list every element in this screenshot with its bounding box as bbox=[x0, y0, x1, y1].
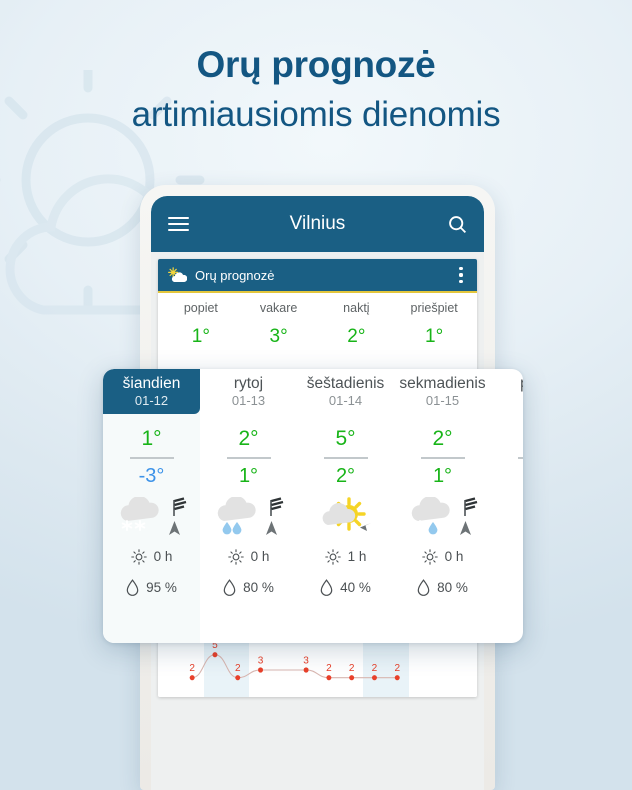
droplet-icon bbox=[320, 579, 333, 596]
forecast-column: vakare 3° bbox=[240, 301, 318, 374]
wind-flag-icon bbox=[167, 497, 193, 537]
sun-hours-row: 0 h bbox=[394, 549, 491, 565]
temp-divider bbox=[421, 457, 465, 459]
weather-icon-group bbox=[103, 490, 200, 544]
day-tab[interactable]: rytoj 01-13 bbox=[200, 369, 297, 414]
hamburger-icon[interactable] bbox=[165, 211, 191, 237]
arrow-north-icon bbox=[169, 521, 180, 535]
cloud-icon bbox=[515, 497, 524, 537]
forecast-strip: popiet 1° vakare 3° naktį 2° priešpiet 1… bbox=[158, 293, 477, 380]
droplet-icon bbox=[417, 579, 430, 596]
precipitation-row: 95 % bbox=[103, 579, 200, 596]
chart-point-label: 2 bbox=[235, 663, 241, 674]
day-name: šeštadienis bbox=[307, 375, 385, 393]
sun-hours-icon bbox=[228, 549, 244, 565]
page-title-line1: Orų prognozė bbox=[0, 42, 632, 88]
daily-forecast-overlay-card: šiandien 01-12 1° -3° bbox=[103, 369, 523, 643]
precipitation-row bbox=[491, 579, 523, 596]
day-tab[interactable]: sekmadienis 01-15 bbox=[394, 369, 491, 414]
day-date: 01-15 bbox=[426, 393, 459, 409]
day-tab[interactable]: pirma 01 bbox=[491, 369, 523, 414]
sun-hours-row: 0 h bbox=[103, 549, 200, 565]
chart-point-label: 2 bbox=[189, 663, 195, 674]
temp-divider bbox=[518, 457, 524, 459]
forecast-card-title: Orų prognozė bbox=[195, 268, 454, 283]
forecast-column-temp: 1° bbox=[395, 326, 473, 348]
wind-flag-icon bbox=[264, 497, 290, 537]
chart-point-label: 2 bbox=[372, 663, 378, 674]
sun-hours-value: 0 h bbox=[154, 549, 173, 564]
chart-point-label: 3 bbox=[303, 655, 309, 666]
daily-forecast-column[interactable]: sekmadienis 01-15 2° 1° bbox=[394, 369, 491, 643]
chart-data-point bbox=[349, 675, 354, 680]
day-tab[interactable]: šiandien 01-12 bbox=[103, 369, 200, 414]
arrow-northwest-icon bbox=[360, 523, 371, 531]
chart-data-point bbox=[258, 667, 263, 672]
chart-point-label: 2 bbox=[326, 663, 332, 674]
chart-data-point bbox=[372, 675, 377, 680]
forecast-column-label: popiet bbox=[162, 301, 240, 315]
weather-icon-group bbox=[200, 490, 297, 544]
temp-high: 2° bbox=[238, 427, 258, 451]
kebab-menu-icon[interactable] bbox=[454, 267, 468, 283]
droplet-icon bbox=[126, 579, 139, 596]
precipitation-row: 40 % bbox=[297, 579, 394, 596]
day-name: pirma bbox=[520, 375, 523, 393]
sun-hours-row bbox=[491, 549, 523, 565]
temp-low: 1° bbox=[239, 464, 258, 488]
daily-forecast-column[interactable]: šeštadienis 01-14 5° 2° bbox=[297, 369, 394, 643]
wind-flag-icon bbox=[458, 497, 484, 537]
cloud-rain-icon bbox=[208, 497, 264, 537]
temp-low: -3° bbox=[139, 464, 165, 488]
temp-low: 2° bbox=[336, 464, 355, 488]
temp-low: 1° bbox=[433, 464, 452, 488]
arrow-north-icon bbox=[266, 521, 277, 535]
chart-point-label: 3 bbox=[258, 655, 264, 666]
chart-data-point bbox=[395, 675, 400, 680]
forecast-column-label: naktį bbox=[318, 301, 396, 315]
day-tab[interactable]: šeštadienis 01-14 bbox=[297, 369, 394, 414]
chart-point-label: 2 bbox=[394, 663, 400, 674]
chart-point-label: 2 bbox=[349, 663, 355, 674]
forecast-column-temp: 2° bbox=[318, 326, 396, 348]
day-name: šiandien bbox=[123, 375, 181, 393]
temp-high: 1° bbox=[141, 427, 161, 451]
day-date: 01-14 bbox=[329, 393, 362, 409]
precipitation-row: 80 % bbox=[200, 579, 297, 596]
sun-hours-value: 0 h bbox=[251, 549, 270, 564]
day-name: rytoj bbox=[234, 375, 263, 393]
sun-cloud-icon bbox=[167, 267, 187, 284]
daily-forecast-column-today[interactable]: šiandien 01-12 1° -3° bbox=[103, 369, 200, 643]
sun-hours-icon bbox=[325, 549, 341, 565]
sun-cloud-icon bbox=[316, 497, 376, 537]
temp-high: 5° bbox=[335, 427, 355, 451]
temp-high: 2° bbox=[432, 427, 452, 451]
forecast-column: priešpiet 1° bbox=[395, 301, 473, 374]
search-icon[interactable] bbox=[444, 211, 470, 237]
daily-forecast-column-clipped[interactable]: pirma 01 3° 1° bbox=[491, 369, 523, 643]
daily-forecast-grid: šiandien 01-12 1° -3° bbox=[103, 369, 523, 643]
day-name: sekmadienis bbox=[399, 375, 485, 393]
arrow-north-icon bbox=[460, 521, 471, 535]
temp-divider bbox=[227, 457, 271, 459]
precipitation-row: 80 % bbox=[394, 579, 491, 596]
precipitation-value: 95 % bbox=[146, 580, 177, 595]
sun-hours-value: 0 h bbox=[445, 549, 464, 564]
forecast-column: naktį 2° bbox=[318, 301, 396, 374]
day-date: 01-13 bbox=[232, 393, 265, 409]
sun-hours-icon bbox=[131, 549, 147, 565]
cloud-snow-icon bbox=[111, 497, 167, 537]
forecast-column-label: priešpiet bbox=[395, 301, 473, 315]
temp-divider bbox=[130, 457, 174, 459]
chart-data-point bbox=[326, 675, 331, 680]
chart-data-point bbox=[235, 675, 240, 680]
weather-icon-group bbox=[491, 490, 523, 544]
forecast-card-header: Orų prognozė bbox=[158, 259, 477, 293]
sun-hours-icon bbox=[422, 549, 438, 565]
weather-icon-group bbox=[394, 490, 491, 544]
forecast-column-temp: 1° bbox=[162, 326, 240, 348]
sun-hours-row: 1 h bbox=[297, 549, 394, 565]
page-title-line2: artimiausiomis dienomis bbox=[0, 92, 632, 138]
daily-forecast-column[interactable]: rytoj 01-13 2° 1° bbox=[200, 369, 297, 643]
forecast-column-temp: 3° bbox=[240, 326, 318, 348]
chart-data-point bbox=[212, 652, 217, 657]
forecast-column: popiet 1° bbox=[162, 301, 240, 374]
page-title: Orų prognozė artimiausiomis dienomis bbox=[0, 42, 632, 138]
day-date: 01-12 bbox=[135, 393, 168, 409]
chart-data-point bbox=[190, 675, 195, 680]
temp-divider bbox=[324, 457, 368, 459]
forecast-column-label: vakare bbox=[240, 301, 318, 315]
precipitation-value: 80 % bbox=[437, 580, 468, 595]
sun-hours-row: 0 h bbox=[200, 549, 297, 565]
weather-icon-group bbox=[297, 490, 394, 544]
chart-line bbox=[192, 655, 397, 678]
precipitation-value: 40 % bbox=[340, 580, 371, 595]
precipitation-value: 80 % bbox=[243, 580, 274, 595]
cloud-sleet-icon bbox=[402, 497, 458, 537]
droplet-icon bbox=[223, 579, 236, 596]
app-bar-title: Vilnius bbox=[191, 213, 444, 235]
app-bar: Vilnius bbox=[151, 196, 484, 252]
sun-hours-value: 1 h bbox=[348, 549, 367, 564]
chart-data-point bbox=[304, 667, 309, 672]
